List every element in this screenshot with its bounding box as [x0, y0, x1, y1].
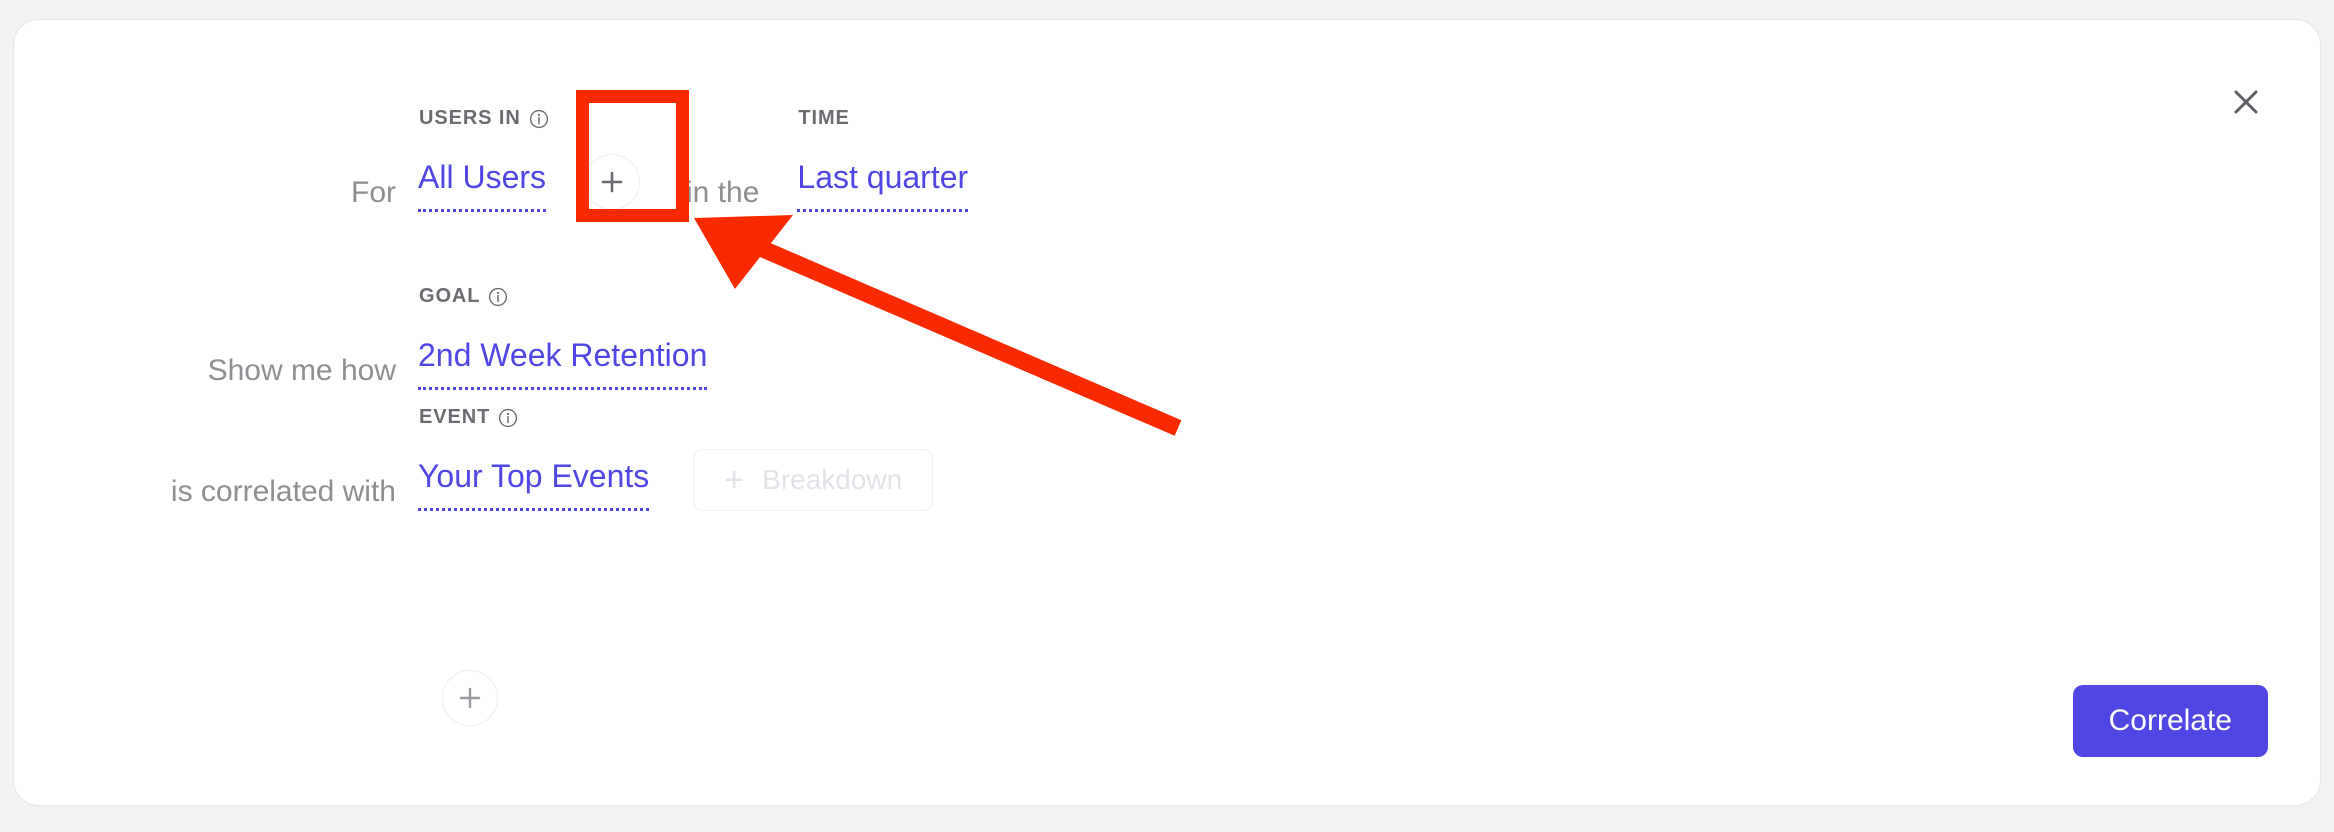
info-icon[interactable]: [529, 109, 549, 129]
field-value-goal[interactable]: 2nd Week Retention: [418, 335, 707, 390]
field-users-in: USERS IN All Users: [418, 157, 546, 212]
plus-icon: [599, 169, 625, 195]
add-breakdown-button[interactable]: + Breakdown: [693, 449, 933, 511]
query-row-goal: Show me how GOAL 2nd Week Retention: [14, 326, 707, 390]
close-button[interactable]: [2224, 80, 2268, 124]
add-query-row-wrap: [442, 670, 498, 726]
info-icon[interactable]: [498, 408, 518, 428]
add-user-filter-button[interactable]: [584, 154, 640, 210]
field-label-time: TIME: [798, 107, 849, 130]
field-label-text: TIME: [798, 107, 849, 130]
row-phrase-is-correlated-with: is correlated with: [14, 473, 418, 511]
field-goal: GOAL 2nd Week Retention: [418, 335, 707, 390]
row-phrase-in-the: in the: [640, 174, 759, 212]
query-row-event: is correlated with EVENT Your Top Event: [14, 447, 933, 511]
field-time: TIME Last quarter: [797, 157, 968, 212]
info-icon[interactable]: [488, 287, 508, 307]
add-user-filter-wrap: [584, 154, 640, 210]
field-label-text: GOAL: [419, 285, 480, 308]
field-label-users-in: USERS IN: [419, 107, 549, 130]
field-label-event: EVENT: [419, 406, 518, 429]
screen-root: For USERS IN All Users: [0, 0, 2334, 832]
correlate-button[interactable]: Correlate: [2073, 685, 2268, 757]
plus-icon: +: [724, 463, 744, 497]
close-icon: [2231, 87, 2261, 117]
field-label-goal: GOAL: [419, 285, 508, 308]
add-query-row-button[interactable]: [442, 670, 498, 726]
field-event: EVENT Your Top Events: [418, 456, 649, 511]
field-value-event[interactable]: Your Top Events: [418, 456, 649, 511]
correlation-query-card: For USERS IN All Users: [13, 19, 2321, 806]
row-phrase-for: For: [14, 174, 418, 212]
field-value-time[interactable]: Last quarter: [797, 157, 968, 212]
add-breakdown-label: Breakdown: [762, 464, 902, 496]
field-label-text: EVENT: [419, 406, 490, 429]
row-phrase-show-me-how: Show me how: [14, 352, 418, 390]
field-value-users-in[interactable]: All Users: [418, 157, 546, 212]
field-label-text: USERS IN: [419, 107, 521, 130]
plus-icon: [457, 685, 483, 711]
query-row-users: For USERS IN All Users: [14, 148, 968, 212]
